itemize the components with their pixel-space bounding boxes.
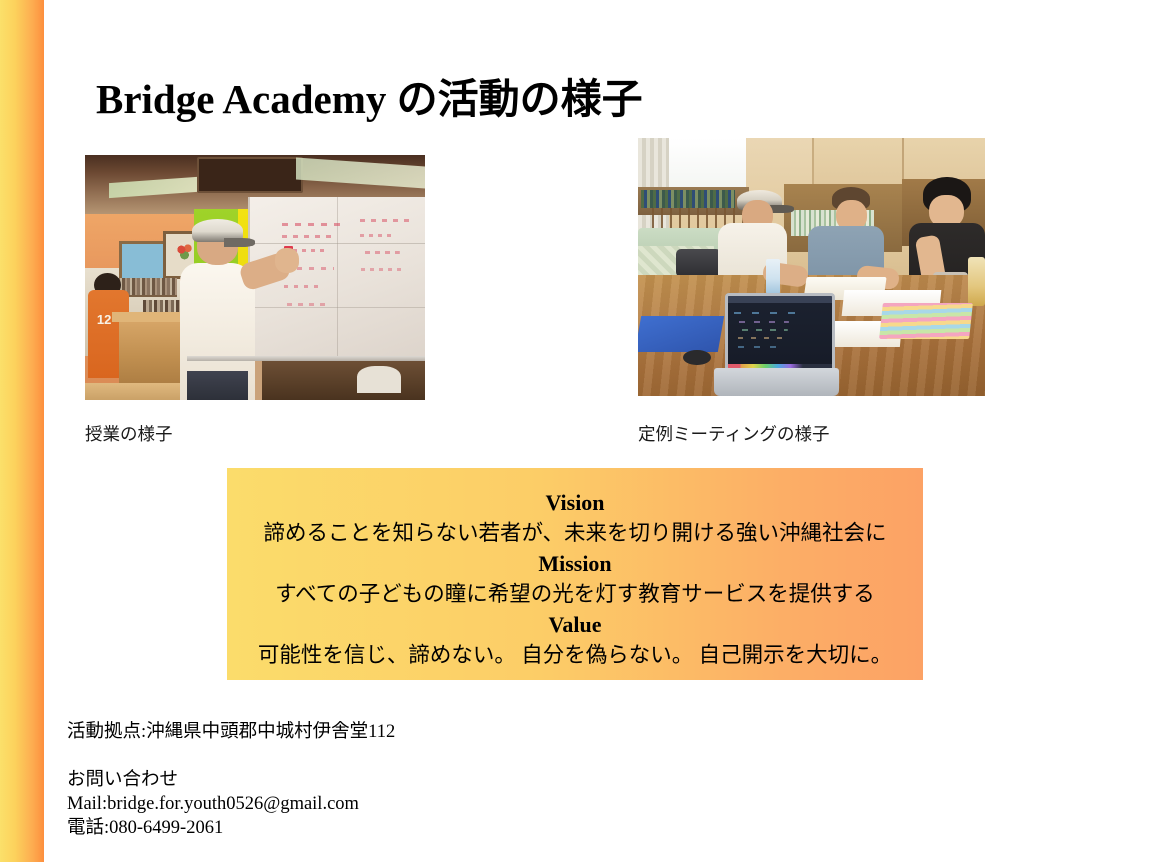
whiteboard-tray <box>187 356 425 361</box>
activity-location: 活動拠点:沖縄県中頭郡中城村伊舎堂112 <box>67 720 395 744</box>
footer-contact-block: 活動拠点:沖縄県中頭郡中城村伊舎堂112 お問い合わせ Mail:bridge.… <box>67 720 395 840</box>
value-body: 可能性を信じ、諦めない。 自分を偽らない。 自己開示を大切に。 <box>227 640 923 671</box>
teacher-hand <box>275 248 299 273</box>
picture-frame-icon <box>119 241 166 281</box>
page-title: Bridge Academy の活動の様子 <box>96 77 643 122</box>
classroom-photo-caption: 授業の様子 <box>85 421 173 446</box>
contact-mail[interactable]: Mail:bridge.for.youth0526@gmail.com <box>67 792 395 816</box>
meeting-photo-scene <box>638 138 985 396</box>
member1-cap-brim <box>770 205 794 213</box>
whiteboard-red-writing <box>360 214 418 278</box>
laptop-code-editor <box>728 296 832 373</box>
ceiling-ac-panel-icon <box>197 157 303 193</box>
classroom-photo-scene: 12 <box>85 155 425 400</box>
teacher-cap-brim <box>224 238 255 246</box>
meeting-photo <box>638 138 985 396</box>
value-heading: Value <box>227 610 923 640</box>
classroom-photo: 12 <box>85 155 425 400</box>
water-bottle-icon <box>766 259 780 295</box>
vision-heading: Vision <box>227 488 923 518</box>
blue-folder <box>638 316 724 352</box>
vision-mission-value-panel: Vision 諦めることを知らない若者が、未来を切り開ける強い沖縄社会に Mis… <box>227 468 923 680</box>
wooden-desk <box>85 383 180 400</box>
contact-phone[interactable]: 電話:080-6499-2061 <box>67 816 395 840</box>
laptop-screen <box>725 293 835 373</box>
meeting-photo-caption: 定例ミーティングの様子 <box>638 421 829 446</box>
colored-notebooks <box>879 303 973 339</box>
mission-body: すべての子どもの瞳に希望の光を灯す教育サービスを提供する <box>227 579 923 610</box>
laptop-keyboard-base <box>714 368 839 396</box>
mission-heading: Mission <box>227 549 923 579</box>
left-accent-bar <box>0 0 44 862</box>
bookshelf-row <box>641 190 735 208</box>
vision-body: 諦めることを知らない若者が、未来を切り開ける強い沖縄社会に <box>227 518 923 549</box>
back-white-object <box>357 366 401 393</box>
contact-label: お問い合わせ <box>67 768 395 792</box>
mouse-icon <box>683 350 711 365</box>
black-bag <box>676 249 721 277</box>
teacher-pants <box>187 371 248 400</box>
tea-bottle-icon <box>968 257 985 306</box>
jersey-number: 12 <box>97 312 111 327</box>
